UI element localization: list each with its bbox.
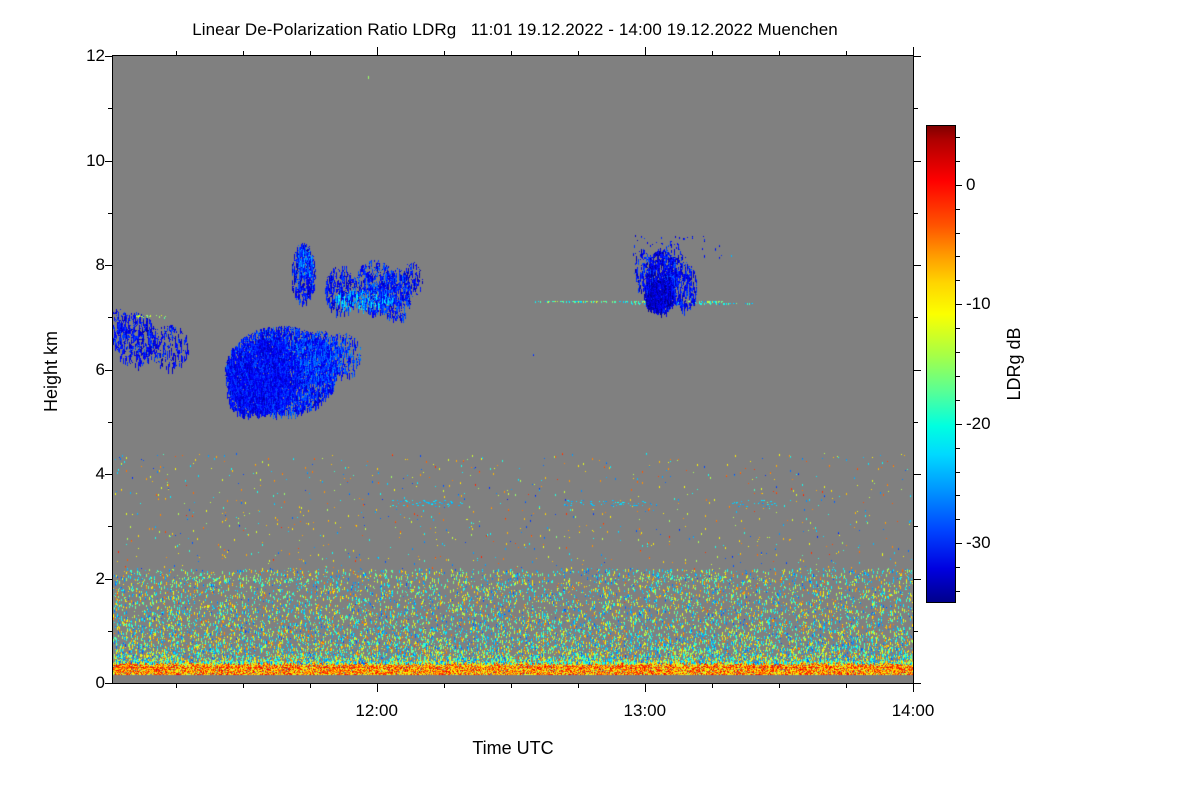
x-tick-mark-minor-top [578, 51, 579, 56]
y-tick-label: 6 [45, 360, 105, 380]
colorbar-tick-mark-minor [956, 280, 960, 281]
y-tick-mark-minor [108, 526, 113, 527]
x-tick-mark-minor [712, 683, 713, 688]
page-title: Linear De-Polarization Ratio LDRg 11:01 … [0, 20, 1030, 40]
colorbar-tick-mark-minor [956, 256, 960, 257]
x-tick-mark-minor [444, 683, 445, 688]
y-tick-mark-minor-right [913, 317, 918, 318]
y-tick-mark-right [913, 56, 921, 57]
y-tick-mark-minor [108, 631, 113, 632]
y-tick-label: 4 [45, 464, 105, 484]
colorbar-tick-mark [956, 424, 962, 425]
x-tick-mark-minor [578, 683, 579, 688]
y-tick-mark-minor-right [913, 213, 918, 214]
x-tick-mark-minor [846, 683, 847, 688]
y-tick-mark-right [913, 265, 921, 266]
y-tick-label: 8 [45, 255, 105, 275]
y-tick-mark-minor [108, 213, 113, 214]
y-tick-mark-minor [108, 317, 113, 318]
x-tick-mark-top [645, 47, 646, 56]
x-tick-mark [645, 683, 646, 692]
colorbar-tick-mark-minor [956, 400, 960, 401]
y-tick-mark-right [913, 370, 921, 371]
plot-area: Height km Time UTC 02468101212:0013:0014… [112, 55, 914, 684]
colorbar-tick-mark-minor [956, 495, 960, 496]
y-tick-mark-minor-right [913, 422, 918, 423]
colorbar-tick-mark-minor [956, 472, 960, 473]
x-tick-mark-minor-top [712, 51, 713, 56]
radar-ldr-plot: Linear De-Polarization Ratio LDRg 11:01 … [0, 0, 1200, 800]
y-tick-mark [105, 579, 113, 580]
colorbar-tick-mark [956, 304, 962, 305]
x-tick-label: 12:00 [355, 701, 398, 721]
y-tick-mark [105, 56, 113, 57]
x-tick-label: 14:00 [892, 701, 935, 721]
x-tick-mark-minor [511, 683, 512, 688]
colorbar-label: LDRg dB [1004, 327, 1025, 400]
x-tick-mark-minor-top [779, 51, 780, 56]
y-tick-mark-right [913, 683, 921, 684]
y-tick-mark [105, 683, 113, 684]
x-tick-mark [913, 683, 914, 692]
x-tick-mark-minor [310, 683, 311, 688]
colorbar: LDRg dB 0-10-20-30 [926, 125, 956, 603]
y-tick-mark-right [913, 161, 921, 162]
y-tick-mark [105, 370, 113, 371]
x-tick-mark-minor-top [444, 51, 445, 56]
x-tick-mark-minor-top [243, 51, 244, 56]
x-tick-mark-minor-top [511, 51, 512, 56]
y-tick-mark-minor-right [913, 108, 918, 109]
y-tick-mark-right [913, 474, 921, 475]
colorbar-tick-mark-minor [956, 352, 960, 353]
y-tick-mark-minor-right [913, 631, 918, 632]
colorbar-gradient [926, 125, 956, 603]
colorbar-tick-mark-minor [956, 376, 960, 377]
x-tick-mark-minor-top [310, 51, 311, 56]
x-tick-mark-minor-top [176, 51, 177, 56]
x-tick-mark-minor-top [846, 51, 847, 56]
heatmap-canvas [113, 56, 913, 683]
x-tick-mark-minor [779, 683, 780, 688]
colorbar-tick-label: 0 [966, 175, 975, 195]
colorbar-tick-mark-minor [956, 519, 960, 520]
x-tick-mark-minor [243, 683, 244, 688]
colorbar-tick-mark-minor [956, 209, 960, 210]
y-tick-mark-minor [108, 108, 113, 109]
colorbar-tick-mark-minor [956, 328, 960, 329]
colorbar-tick-mark-minor [956, 567, 960, 568]
colorbar-tick-mark-minor [956, 591, 960, 592]
y-tick-label: 2 [45, 569, 105, 589]
y-tick-mark-minor-right [913, 526, 918, 527]
x-tick-mark-top [913, 47, 914, 56]
colorbar-tick-label: -30 [966, 533, 991, 553]
colorbar-tick-mark [956, 185, 962, 186]
x-tick-label: 13:00 [624, 701, 667, 721]
y-tick-label: 0 [45, 673, 105, 693]
colorbar-tick-mark-minor [956, 137, 960, 138]
colorbar-tick-mark [956, 543, 962, 544]
y-tick-label: 10 [45, 151, 105, 171]
colorbar-tick-mark-minor [956, 161, 960, 162]
x-tick-mark-minor [176, 683, 177, 688]
x-axis-label: Time UTC [113, 738, 913, 759]
colorbar-tick-label: -20 [966, 414, 991, 434]
x-tick-mark-top [377, 47, 378, 56]
x-tick-mark [377, 683, 378, 692]
colorbar-tick-label: -10 [966, 294, 991, 314]
y-tick-mark-minor [108, 422, 113, 423]
y-tick-mark [105, 161, 113, 162]
y-tick-label: 12 [45, 46, 105, 66]
colorbar-tick-mark-minor [956, 448, 960, 449]
y-tick-mark-right [913, 579, 921, 580]
colorbar-tick-mark-minor [956, 233, 960, 234]
y-tick-mark [105, 265, 113, 266]
y-tick-mark [105, 474, 113, 475]
